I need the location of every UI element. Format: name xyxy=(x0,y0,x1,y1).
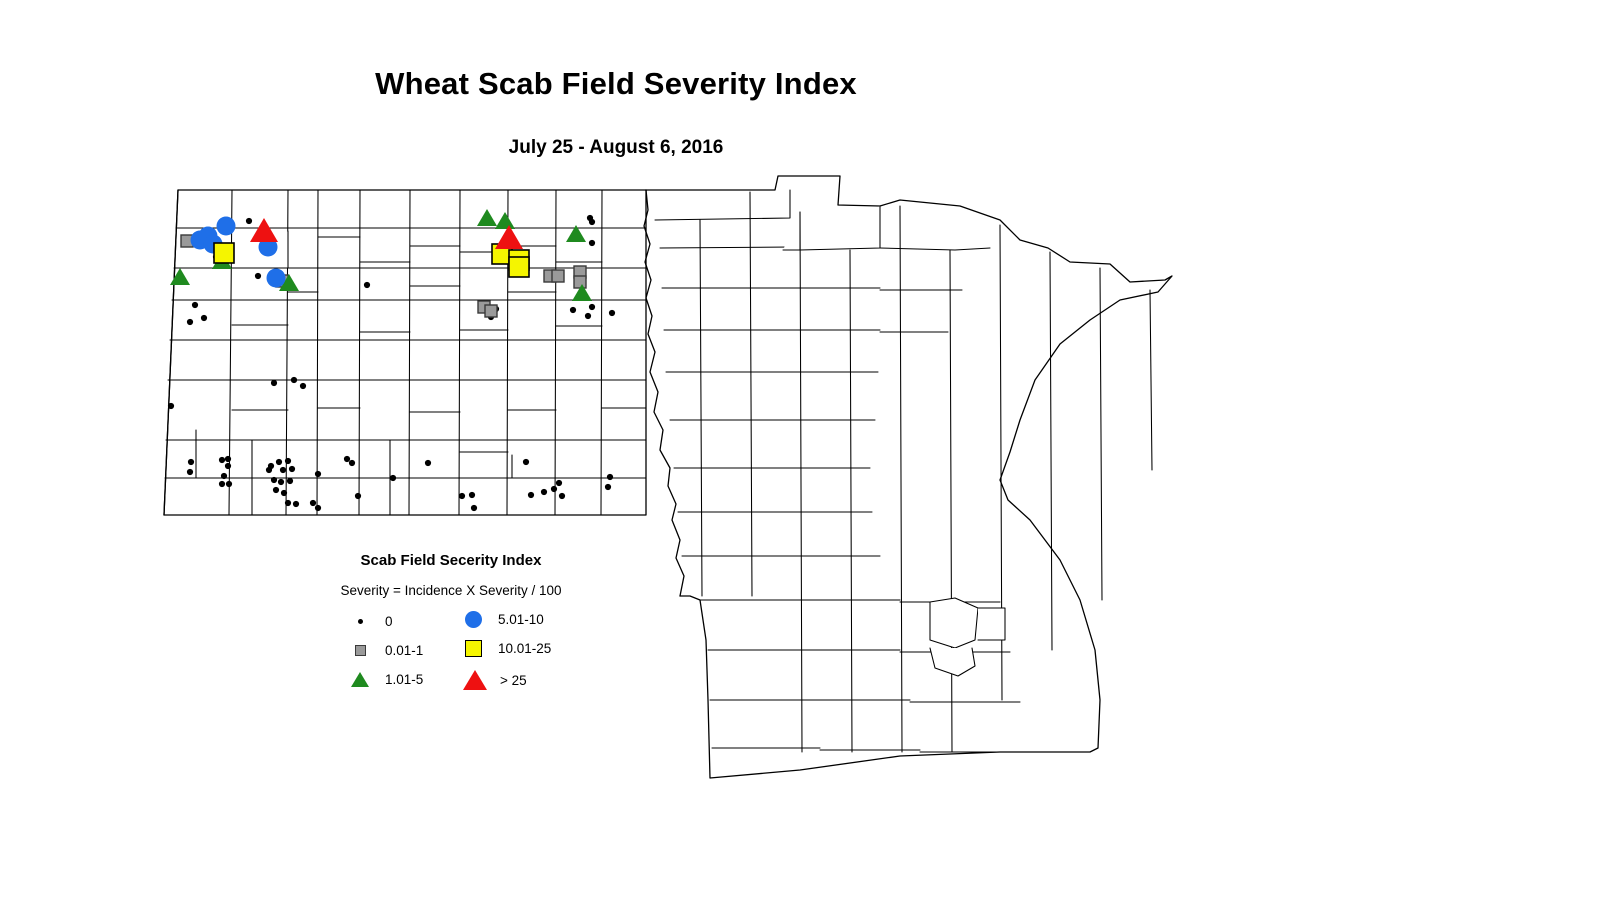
severity-point[interactable] xyxy=(609,310,615,316)
severity-point[interactable] xyxy=(250,218,278,242)
severity-point[interactable] xyxy=(300,383,306,389)
severity-point[interactable] xyxy=(541,489,547,495)
severity-point[interactable] xyxy=(556,480,562,486)
severity-point[interactable] xyxy=(221,473,227,479)
severity-point[interactable] xyxy=(355,493,361,499)
severity-point[interactable] xyxy=(225,463,231,469)
legend-item-2[interactable]: 1.01-5 xyxy=(345,672,423,687)
severity-point[interactable] xyxy=(168,403,174,409)
triangle-green-icon xyxy=(345,672,375,687)
severity-point[interactable] xyxy=(214,243,234,263)
severity-point[interactable] xyxy=(217,217,236,236)
severity-point[interactable] xyxy=(570,307,576,313)
severity-point[interactable] xyxy=(280,467,286,473)
legend-title: Scab Field Secerity Index xyxy=(331,552,571,569)
twin-cities-metro xyxy=(930,598,1005,676)
severity-point[interactable] xyxy=(551,486,557,492)
legend: Scab Field Secerity Index Severity = Inc… xyxy=(325,552,625,700)
severity-point[interactable] xyxy=(589,240,595,246)
square-yellow-icon xyxy=(458,640,488,657)
severity-point[interactable] xyxy=(349,460,355,466)
severity-point[interactable] xyxy=(523,459,529,465)
severity-point[interactable] xyxy=(528,492,534,498)
severity-point[interactable] xyxy=(589,219,595,225)
severity-point[interactable] xyxy=(225,456,231,462)
legend-label: 0 xyxy=(385,614,393,629)
triangle-red-icon xyxy=(460,670,490,690)
severity-point[interactable] xyxy=(255,273,261,279)
legend-entries: 0 0.01-1 1.01-5 5.01-10 10.01-25 > 25 xyxy=(325,610,625,700)
legend-item-3[interactable]: 5.01-10 xyxy=(458,611,544,628)
severity-point[interactable] xyxy=(219,457,225,463)
severity-point[interactable] xyxy=(469,492,475,498)
severity-point[interactable] xyxy=(271,477,277,483)
severity-point[interactable] xyxy=(425,460,431,466)
severity-point[interactable] xyxy=(585,313,591,319)
severity-point[interactable] xyxy=(364,282,370,288)
severity-point[interactable] xyxy=(201,315,207,321)
severity-point[interactable] xyxy=(273,487,279,493)
dot-black-icon xyxy=(345,619,375,624)
legend-label: > 25 xyxy=(500,673,527,688)
legend-item-0[interactable]: 0 xyxy=(345,614,393,629)
severity-point[interactable] xyxy=(471,505,477,511)
severity-point[interactable] xyxy=(267,269,286,288)
severity-point[interactable] xyxy=(187,319,193,325)
severity-point[interactable] xyxy=(271,380,277,386)
severity-point[interactable] xyxy=(605,484,611,490)
legend-label: 1.01-5 xyxy=(385,672,423,687)
severity-points-layer[interactable] xyxy=(168,209,615,511)
severity-point[interactable] xyxy=(607,474,613,480)
legend-item-4[interactable]: 10.01-25 xyxy=(458,640,551,657)
minnesota-outline xyxy=(646,176,1172,778)
severity-point[interactable] xyxy=(187,469,193,475)
severity-point[interactable] xyxy=(287,478,293,484)
severity-point[interactable] xyxy=(170,268,190,285)
map-canvas[interactable] xyxy=(0,0,1612,900)
severity-point[interactable] xyxy=(285,500,291,506)
severity-point[interactable] xyxy=(315,471,321,477)
red-river-boundary xyxy=(644,190,684,596)
severity-point[interactable] xyxy=(477,209,497,226)
severity-point[interactable] xyxy=(266,467,272,473)
severity-point[interactable] xyxy=(589,304,595,310)
county-map-svg xyxy=(0,0,1612,900)
severity-point[interactable] xyxy=(344,456,350,462)
severity-point[interactable] xyxy=(188,459,194,465)
severity-point[interactable] xyxy=(289,466,295,472)
severity-point[interactable] xyxy=(509,257,529,277)
legend-label: 0.01-1 xyxy=(385,643,423,658)
severity-point[interactable] xyxy=(246,218,252,224)
severity-point[interactable] xyxy=(293,501,299,507)
severity-point[interactable] xyxy=(285,458,291,464)
legend-item-1[interactable]: 0.01-1 xyxy=(345,643,423,658)
severity-point[interactable] xyxy=(310,500,316,506)
severity-point[interactable] xyxy=(390,475,396,481)
legend-label: 5.01-10 xyxy=(498,612,544,627)
map-page: Wheat Scab Field Severity Index July 25 … xyxy=(0,0,1612,900)
legend-label: 10.01-25 xyxy=(498,641,551,656)
legend-item-5[interactable]: > 25 xyxy=(460,670,527,690)
severity-point[interactable] xyxy=(495,212,515,229)
severity-point[interactable] xyxy=(315,505,321,511)
square-gray-icon xyxy=(345,645,375,656)
severity-point[interactable] xyxy=(226,481,232,487)
severity-point[interactable] xyxy=(278,479,284,485)
minnesota-counties xyxy=(655,190,1152,752)
severity-point[interactable] xyxy=(485,305,497,317)
severity-point[interactable] xyxy=(459,493,465,499)
circle-blue-icon xyxy=(458,611,488,628)
severity-point[interactable] xyxy=(291,377,297,383)
legend-formula: Severity = Incidence X Severity / 100 xyxy=(311,583,591,598)
severity-point[interactable] xyxy=(552,270,564,282)
severity-point[interactable] xyxy=(276,459,282,465)
severity-point[interactable] xyxy=(559,493,565,499)
severity-point[interactable] xyxy=(219,481,225,487)
severity-point[interactable] xyxy=(192,302,198,308)
severity-point[interactable] xyxy=(281,490,287,496)
severity-point[interactable] xyxy=(574,276,586,288)
